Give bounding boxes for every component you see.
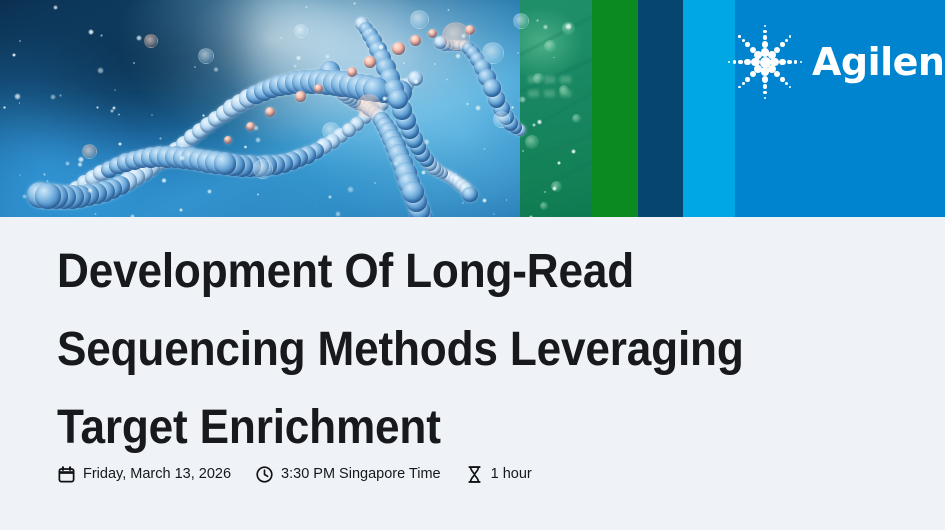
dna-helix-image [0,0,592,217]
webinar-meta-row: Friday, March 13, 2026 3:30 PM Singapore… [57,465,532,484]
hourglass-icon [465,465,484,484]
color-band-green [592,0,638,217]
agilent-logo[interactable]: Agilent [726,22,926,102]
meta-time-text: 3:30 PM Singapore Time [281,467,441,482]
meta-duration-text: 1 hour [491,467,532,482]
green-circuit-image [520,0,592,217]
page-title: Development Of Long-Read Sequencing Meth… [57,233,793,467]
agilent-starburst-icon [726,23,804,101]
meta-duration: 1 hour [465,465,532,484]
content-area: Development Of Long-Read Sequencing Meth… [0,217,945,530]
meta-date: Friday, March 13, 2026 [57,465,231,484]
agilent-wordmark: Agilent [812,43,945,81]
meta-date-text: Friday, March 13, 2026 [83,467,231,482]
calendar-icon [57,465,76,484]
hero-banner: Agilent [0,0,945,217]
webinar-promo-page: Agilent Development Of Long-Read Sequenc… [0,0,945,530]
color-band-navy [638,0,683,217]
meta-time: 3:30 PM Singapore Time [255,465,441,484]
clock-icon [255,465,274,484]
